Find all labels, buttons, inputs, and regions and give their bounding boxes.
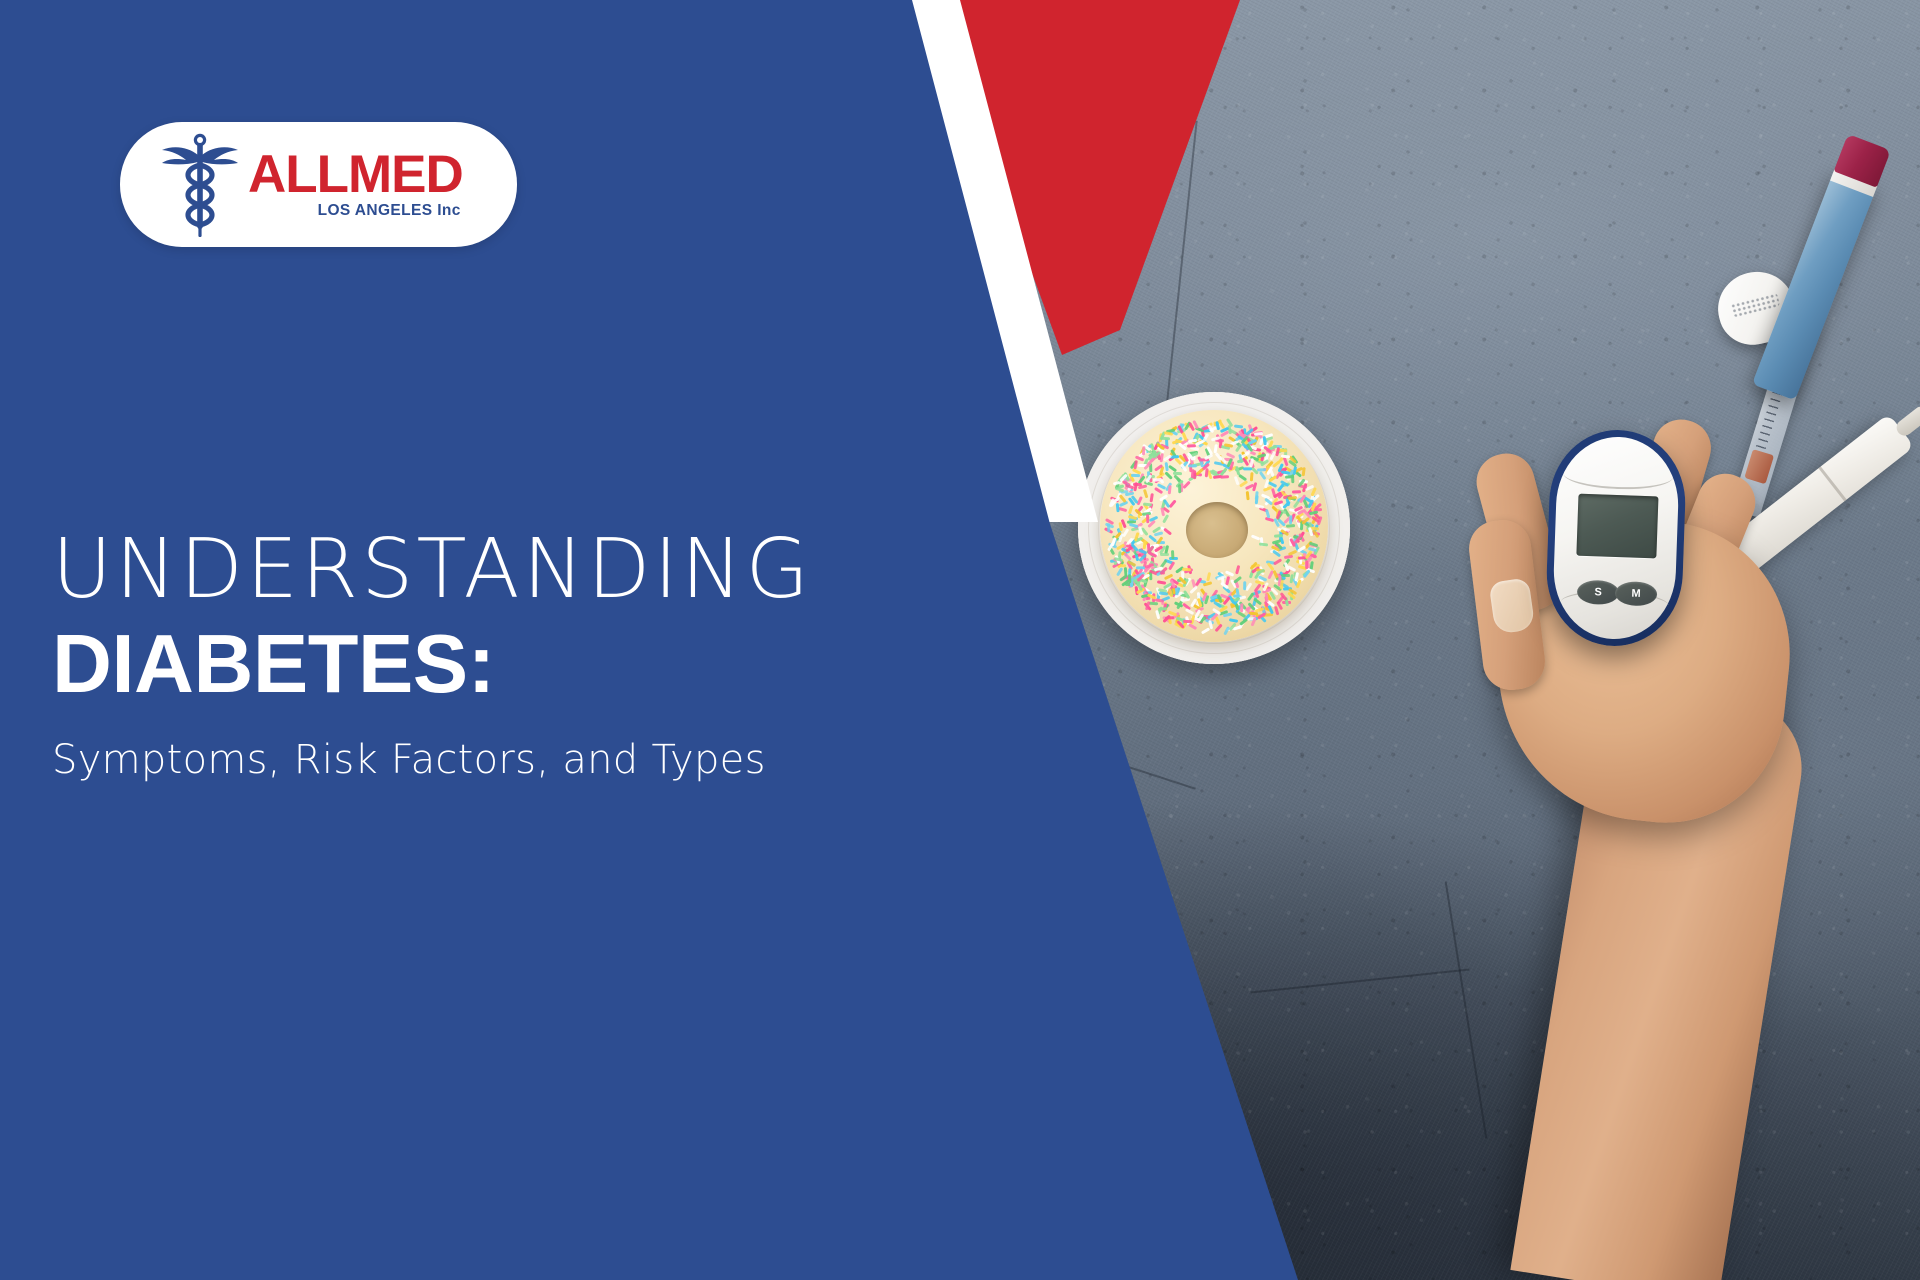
glucose-meter-buttons: S M bbox=[1579, 580, 1656, 607]
syringe-plunger bbox=[1744, 449, 1774, 484]
headline-line-1: UNDERSTANDING bbox=[52, 528, 932, 612]
headline-block: UNDERSTANDING DIABETES: Symptoms, Risk F… bbox=[52, 528, 932, 783]
donut-hole bbox=[1186, 502, 1248, 558]
logo-wordmark: ALLMED LOS ANGELES Inc bbox=[248, 149, 463, 221]
caduceus-icon bbox=[154, 129, 246, 241]
logo-subtitle: LOS ANGELES Inc bbox=[318, 202, 461, 220]
logo-name: ALLMED bbox=[248, 149, 463, 201]
vial-label-print bbox=[1730, 292, 1780, 317]
glucose-meter-body: S M bbox=[1552, 435, 1681, 641]
sprinkled-donut bbox=[1100, 410, 1328, 642]
glucose-meter-button-s[interactable]: S bbox=[1577, 580, 1620, 605]
headline-line-2: DIABETES: bbox=[52, 618, 932, 711]
headline-subtitle: Symptoms, Risk Factors, and Types bbox=[52, 737, 932, 783]
glucose-meter: S M bbox=[1544, 428, 1687, 649]
diabetes-banner: S M A bbox=[0, 0, 1920, 1280]
glucose-meter-button-m[interactable]: M bbox=[1615, 581, 1658, 606]
allmed-logo[interactable]: ALLMED LOS ANGELES Inc bbox=[120, 122, 517, 247]
lancing-pen-seam bbox=[1818, 466, 1846, 501]
glucose-meter-seam-top bbox=[1563, 459, 1674, 491]
glucose-meter-screen bbox=[1576, 494, 1658, 559]
